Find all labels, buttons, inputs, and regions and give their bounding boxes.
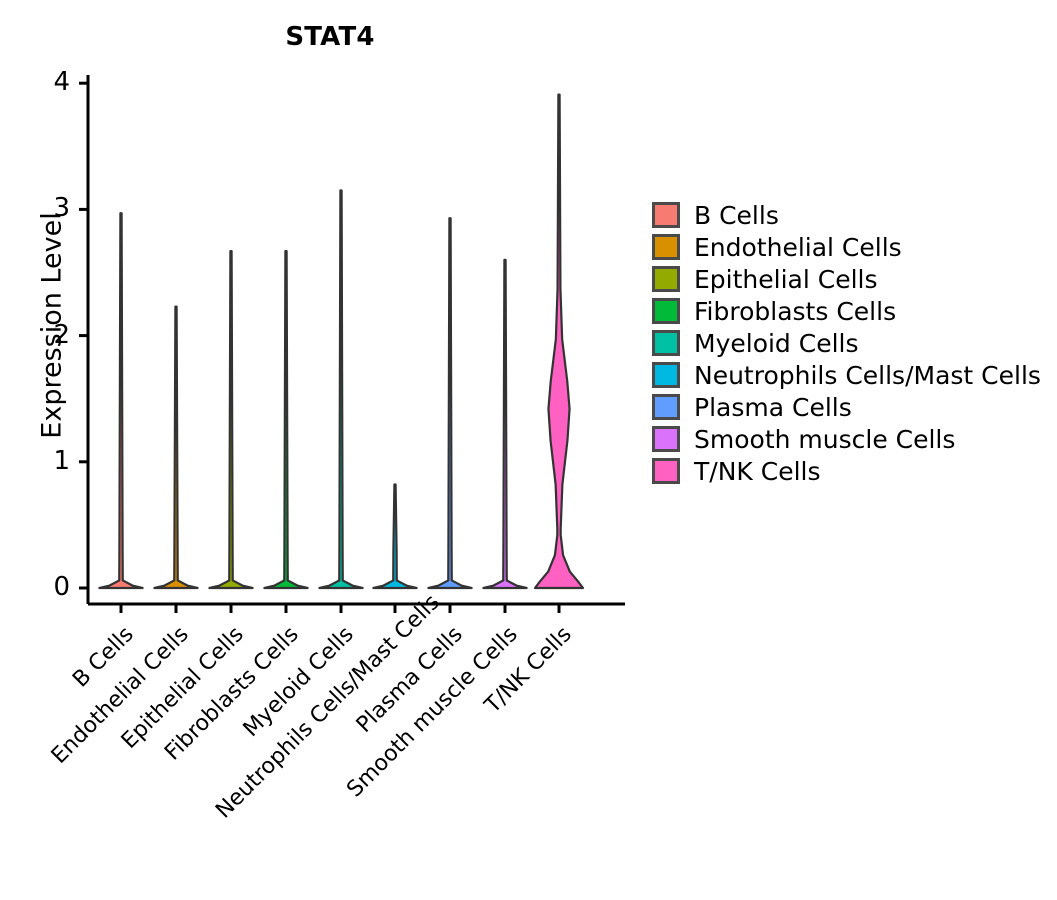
legend-item-b-cells[interactable]: B Cells xyxy=(652,200,779,230)
violin-fibroblasts-cells[interactable] xyxy=(264,251,307,588)
legend-swatch-icon xyxy=(652,330,680,356)
legend-swatch-icon xyxy=(652,202,680,228)
legend-item-fibroblasts-cells[interactable]: Fibroblasts Cells xyxy=(652,296,896,326)
legend-label: T/NK Cells xyxy=(694,459,821,484)
legend-swatch-icon xyxy=(652,298,680,324)
legend-item-neutrophils-cells-mast-cells[interactable]: Neutrophils Cells/Mast Cells xyxy=(652,360,1041,390)
violin-neutrophils-cells-mast-cells[interactable] xyxy=(373,485,416,588)
legend-swatch-icon xyxy=(652,234,680,260)
violin-b-cells[interactable] xyxy=(99,213,142,588)
legend-swatch-icon xyxy=(652,458,680,484)
legend-label: B Cells xyxy=(694,203,779,228)
legend-swatch-icon xyxy=(652,394,680,420)
legend-label: Neutrophils Cells/Mast Cells xyxy=(694,363,1041,388)
legend-item-smooth-muscle-cells[interactable]: Smooth muscle Cells xyxy=(652,424,955,454)
violin-myeloid-cells[interactable] xyxy=(319,190,362,588)
violin-body[interactable] xyxy=(209,251,252,588)
violin-plot-figure: STAT4 Expression Level 01234 B CellsEndo… xyxy=(0,0,1057,900)
legend-label: Myeloid Cells xyxy=(694,331,859,356)
violin-smooth-muscle-cells[interactable] xyxy=(483,260,526,588)
legend-swatch-icon xyxy=(652,426,680,452)
legend-item-endothelial-cells[interactable]: Endothelial Cells xyxy=(652,232,902,262)
legend-item-t-nk-cells[interactable]: T/NK Cells xyxy=(652,456,821,486)
legend-label: Epithelial Cells xyxy=(694,267,878,292)
legend-label: Endothelial Cells xyxy=(694,235,902,260)
violin-body[interactable] xyxy=(535,95,583,588)
legend-item-plasma-cells[interactable]: Plasma Cells xyxy=(652,392,852,422)
legend-label: Smooth muscle Cells xyxy=(694,427,955,452)
violin-body[interactable] xyxy=(264,251,307,588)
legend-item-myeloid-cells[interactable]: Myeloid Cells xyxy=(652,328,859,358)
violin-body[interactable] xyxy=(428,218,471,588)
legend-swatch-icon xyxy=(652,266,680,292)
violin-body[interactable] xyxy=(99,213,142,588)
violin-body[interactable] xyxy=(154,307,197,588)
violin-epithelial-cells[interactable] xyxy=(209,251,252,588)
violin-body[interactable] xyxy=(483,260,526,588)
violin-t-nk-cells[interactable] xyxy=(535,95,583,588)
violin-plasma-cells[interactable] xyxy=(428,218,471,588)
violin-body[interactable] xyxy=(319,190,362,588)
legend-label: Fibroblasts Cells xyxy=(694,299,896,324)
legend-label: Plasma Cells xyxy=(694,395,852,420)
violin-endothelial-cells[interactable] xyxy=(154,307,197,588)
legend-item-epithelial-cells[interactable]: Epithelial Cells xyxy=(652,264,878,294)
violin-body[interactable] xyxy=(373,485,416,588)
legend-swatch-icon xyxy=(652,362,680,388)
